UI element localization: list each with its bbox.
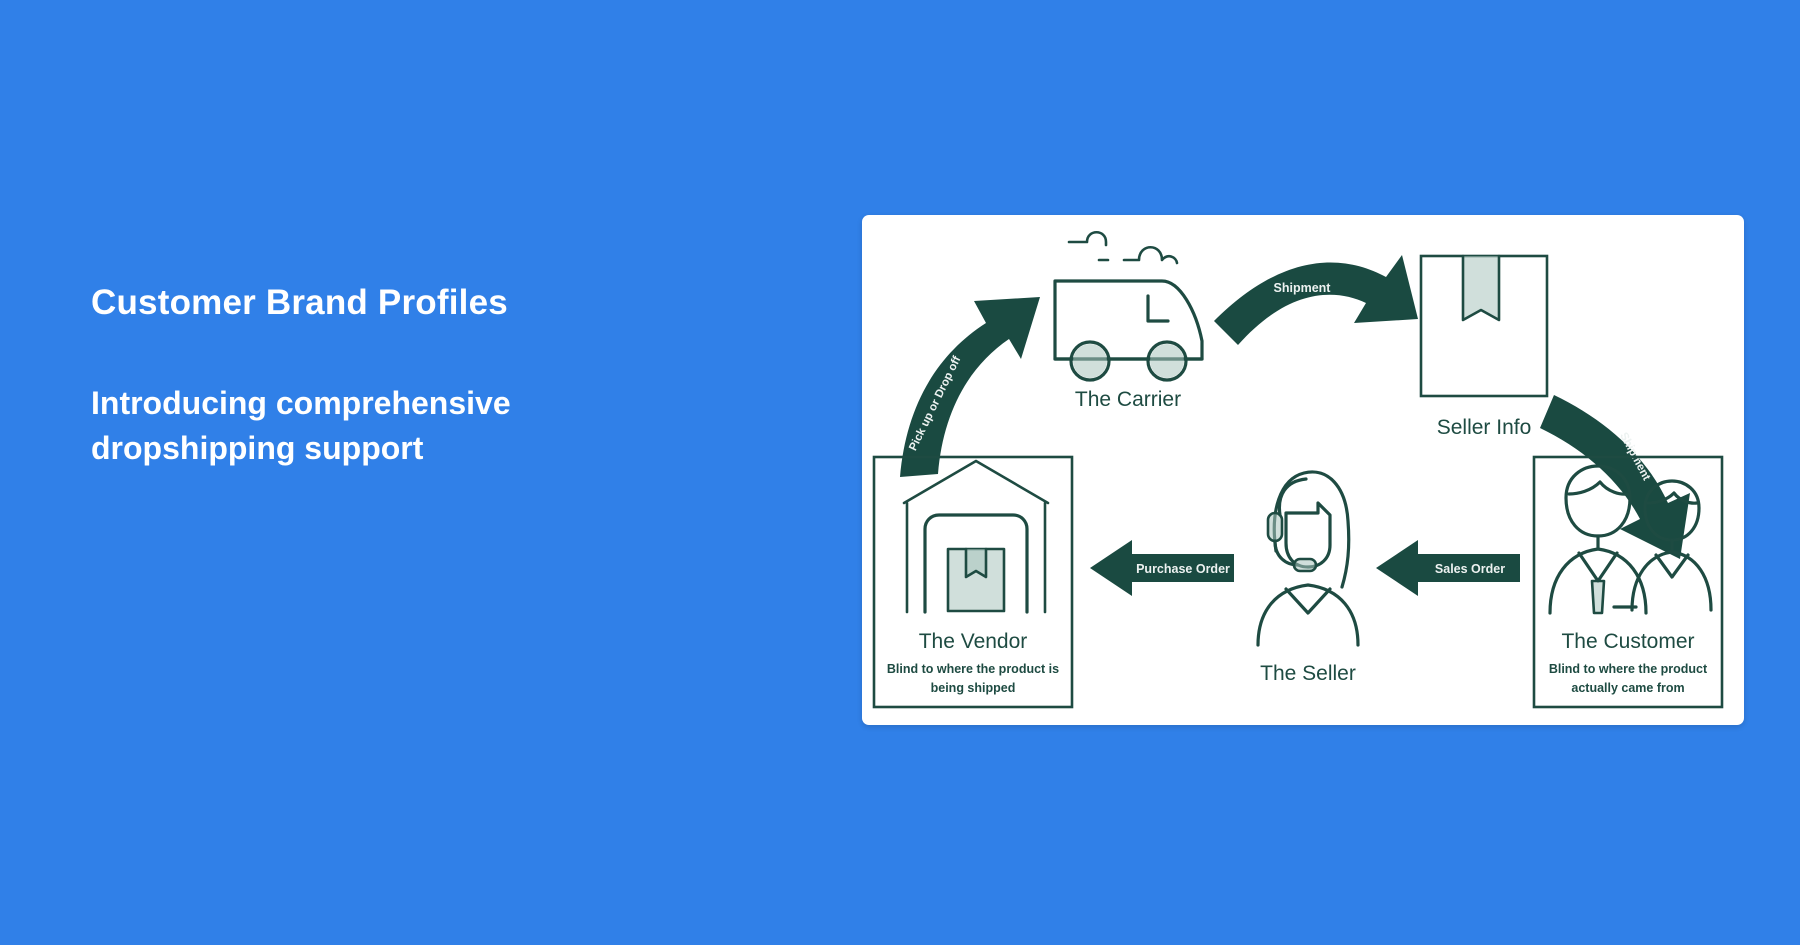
arrow-shipment-right: Shipment <box>1540 395 1690 559</box>
node-sublabel-customer-line1: Blind to where the product <box>1549 662 1708 676</box>
text-block: Customer Brand Profiles Introducing comp… <box>91 282 771 472</box>
page-title: Customer Brand Profiles <box>91 282 771 324</box>
arrow-shipment-top: Shipment <box>1214 255 1418 345</box>
document-box-icon <box>1421 256 1547 396</box>
node-label-seller-info: Seller Info <box>1437 416 1532 439</box>
arrow-pickup-dropoff: Pick up or Drop off <box>900 297 1040 477</box>
node-seller: The Seller <box>1258 472 1358 685</box>
node-sublabel-customer-line2: actually came from <box>1571 681 1684 695</box>
dropshipping-flow-diagram: Pick up or Drop off Shipment Shipment Sa… <box>862 215 1744 725</box>
node-label-vendor: The Vendor <box>919 630 1028 653</box>
node-sublabel-vendor-line2: being shipped <box>931 681 1016 695</box>
node-carrier: The Carrier <box>1055 232 1202 411</box>
node-seller-info: Seller Info <box>1421 256 1547 439</box>
delivery-van-icon <box>1055 232 1202 380</box>
arrow-sales-order: Sales Order <box>1376 540 1520 596</box>
node-sublabel-vendor-line1: Blind to where the product is <box>887 662 1059 676</box>
warehouse-icon <box>904 461 1048 612</box>
arrow-label-purchase-order: Purchase Order <box>1136 562 1230 576</box>
node-customer: The Customer Blind to where the product … <box>1534 457 1722 707</box>
slide-canvas: Customer Brand Profiles Introducing comp… <box>0 0 1800 945</box>
node-label-carrier: The Carrier <box>1075 388 1181 411</box>
dropshipping-flow-card: Pick up or Drop off Shipment Shipment Sa… <box>862 215 1744 725</box>
arrow-purchase-order: Purchase Order <box>1090 540 1234 596</box>
headset-agent-icon <box>1258 472 1358 645</box>
arrow-label-sales-order: Sales Order <box>1435 562 1505 576</box>
page-subtitle: Introducing comprehensive dropshipping s… <box>91 381 651 472</box>
arrow-label-shipment-top: Shipment <box>1274 281 1332 295</box>
node-vendor: The Vendor Blind to where the product is… <box>874 457 1072 707</box>
node-label-seller: The Seller <box>1260 662 1356 685</box>
node-label-customer: The Customer <box>1561 630 1694 653</box>
